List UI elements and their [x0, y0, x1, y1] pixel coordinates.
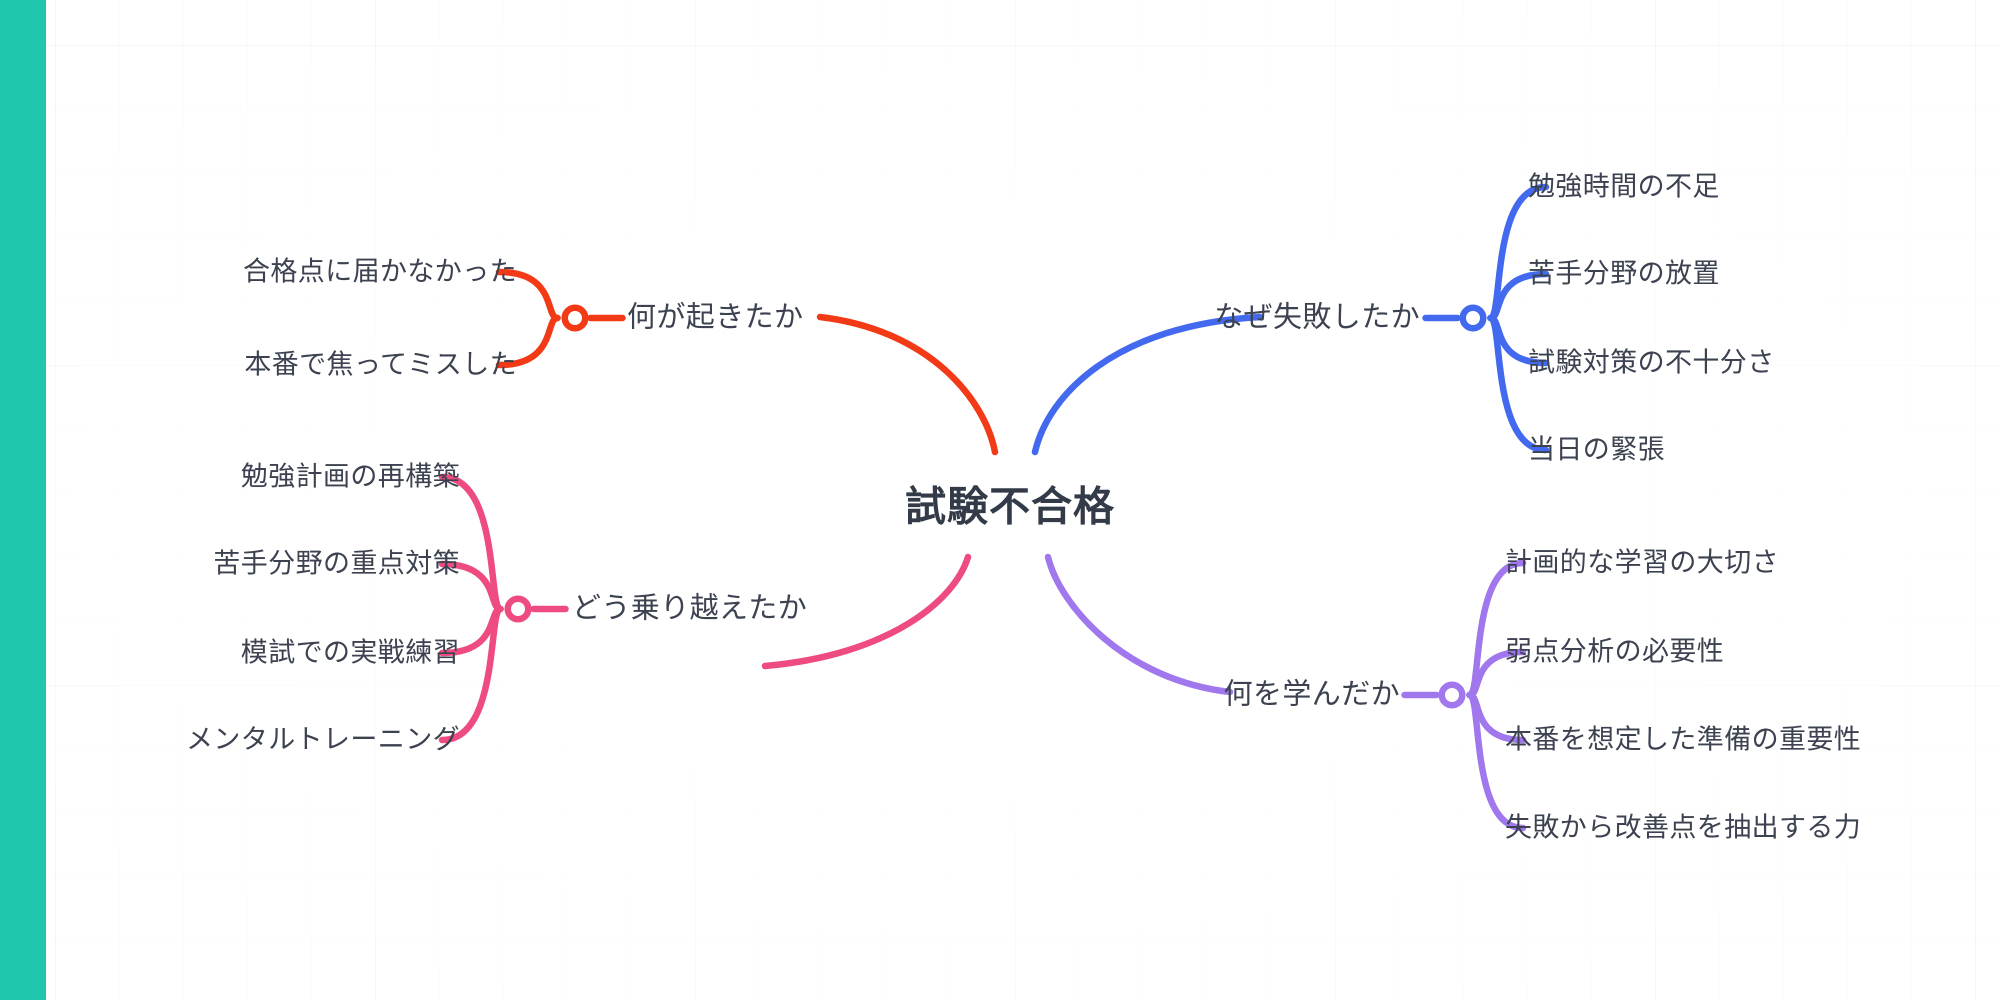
- leaf-label-what-learned-0[interactable]: 計画的な学習の大切さ: [1505, 550, 1779, 577]
- branch-node-what-happened[interactable]: [565, 308, 586, 329]
- branch-label-how-overcome[interactable]: どう乗り越えたか: [572, 595, 807, 624]
- trunk-what-happened: [820, 317, 995, 452]
- leaf-label-what-learned-2[interactable]: 本番を想定した準備の重要性: [1505, 727, 1861, 754]
- leaf-label-how-overcome-3[interactable]: メンタルトレーニング: [186, 727, 460, 754]
- leaf-label-what-learned-3[interactable]: 失敗から改善点を抽出する力: [1505, 815, 1861, 842]
- leaf-wire-why-failed-3: [1491, 318, 1547, 450]
- leaf-label-what-happened-0[interactable]: 合格点に届かなかった: [243, 259, 517, 286]
- leaf-label-what-happened-1[interactable]: 本番で焦ってミスした: [244, 352, 517, 379]
- leaf-label-how-overcome-0[interactable]: 勉強計画の再構築: [241, 464, 460, 491]
- leaf-wire-what-learned-0: [1470, 563, 1524, 695]
- branch-node-how-overcome[interactable]: [508, 599, 529, 620]
- leaf-wire-how-overcome-3: [442, 609, 501, 740]
- leaf-label-why-failed-3[interactable]: 当日の緊張: [1528, 437, 1665, 464]
- left-accent-bar: [0, 0, 46, 1000]
- trunk-what-learned: [1048, 557, 1230, 692]
- branch-node-what-learned[interactable]: [1442, 685, 1463, 706]
- center-topic-label[interactable]: 試験不合格: [905, 487, 1115, 528]
- trunk-why-failed: [1035, 317, 1260, 452]
- leaf-label-how-overcome-1[interactable]: 苦手分野の重点対策: [213, 551, 460, 578]
- leaf-label-how-overcome-2[interactable]: 模試での実戦練習: [241, 640, 460, 667]
- branch-label-what-learned[interactable]: 何を学んだか: [1224, 681, 1400, 710]
- leaf-label-why-failed-2[interactable]: 試験対策の不十分さ: [1528, 350, 1775, 377]
- leaf-label-why-failed-0[interactable]: 勉強時間の不足: [1528, 174, 1720, 201]
- leaf-label-why-failed-1[interactable]: 苦手分野の放置: [1528, 261, 1720, 288]
- mindmap-canvas: 試験不合格合格点に届かなかった本番で焦ってミスした何が起きたか勉強時間の不足苦手…: [0, 0, 2000, 1000]
- branch-label-what-happened[interactable]: 何が起きたか: [627, 304, 803, 333]
- leaf-wire-why-failed-0: [1491, 187, 1547, 318]
- branch-label-why-failed[interactable]: なぜ失敗したか: [1214, 304, 1420, 333]
- leaf-wire-what-learned-3: [1470, 695, 1524, 828]
- leaf-wire-how-overcome-0: [442, 477, 501, 609]
- leaf-label-what-learned-1[interactable]: 弱点分析の必要性: [1505, 639, 1724, 666]
- branch-node-why-failed[interactable]: [1463, 308, 1484, 329]
